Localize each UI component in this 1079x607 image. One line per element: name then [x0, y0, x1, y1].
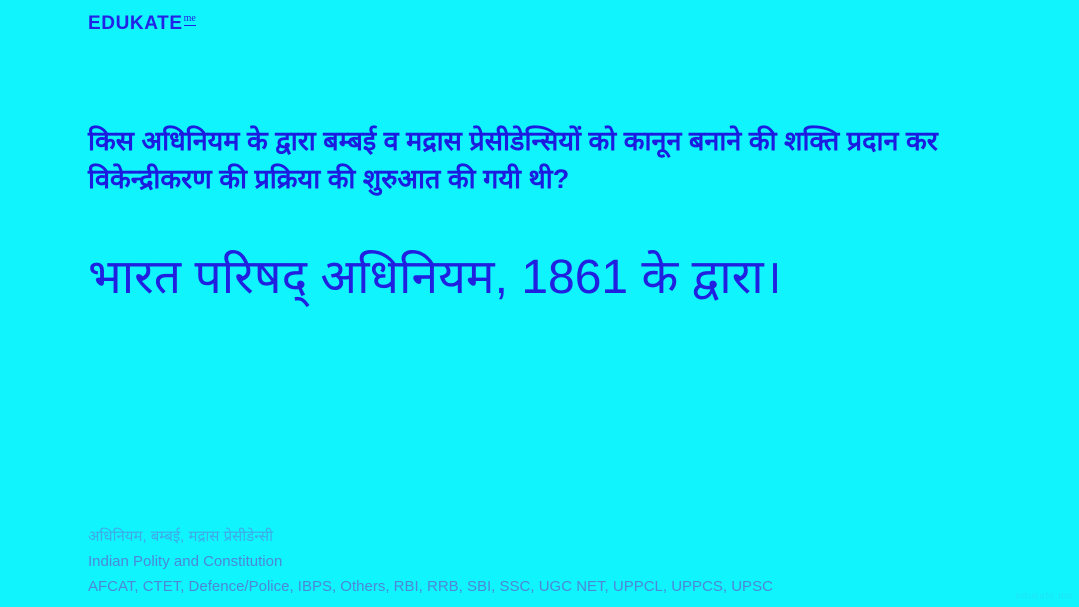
question-text: किस अधिनियम के द्वारा बम्बई व मद्रास प्र…	[88, 122, 1008, 199]
corner-watermark: edukate.me	[1016, 591, 1073, 602]
footer-exam-list: AFCAT, CTET, Defence/Police, IBPS, Other…	[88, 574, 1018, 599]
answer-text: भारत परिषद् अधिनियम, 1861 के द्वारा।	[88, 248, 1028, 308]
brand-superscript: me	[184, 14, 196, 26]
brand-name: EDUKATE	[88, 14, 183, 33]
footer-subject: Indian Polity and Constitution	[88, 549, 1018, 574]
footer-tags-hindi: अधिनियम, बम्बई, मद्रास प्रेसीडेन्सी	[88, 524, 1018, 549]
slide-canvas: EDUKATE me किस अधिनियम के द्वारा बम्बई व…	[0, 0, 1079, 607]
brand-logo[interactable]: EDUKATE me	[88, 14, 196, 33]
footer-metadata: अधिनियम, बम्बई, मद्रास प्रेसीडेन्सी Indi…	[88, 524, 1018, 599]
